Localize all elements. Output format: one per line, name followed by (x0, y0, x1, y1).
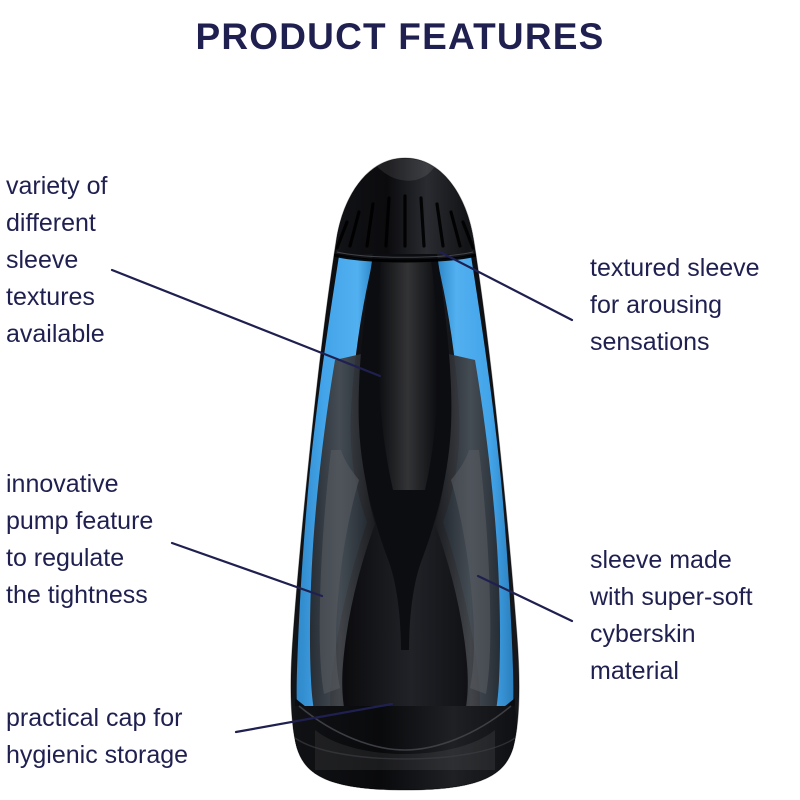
body-gloss (378, 260, 438, 490)
page-title: PRODUCT FEATURES (0, 16, 800, 58)
product-body (255, 150, 555, 800)
vented-cap (315, 150, 495, 262)
product-illustration-svg (255, 150, 555, 800)
callout-practical-cap: practical cap for hygienic storage (6, 700, 276, 774)
callout-textured-sleeve: textured sleeve for arousing sensations (590, 250, 800, 361)
product-image (255, 150, 555, 800)
callout-pump-feature: innovative pump feature to regulate the … (6, 466, 246, 614)
infographic-canvas: PRODUCT FEATURES (0, 0, 800, 800)
callout-sleeve-material: sleeve made with super-soft cyberskin ma… (590, 542, 800, 690)
callout-sleeve-textures: variety of different sleeve textures ava… (6, 168, 246, 353)
